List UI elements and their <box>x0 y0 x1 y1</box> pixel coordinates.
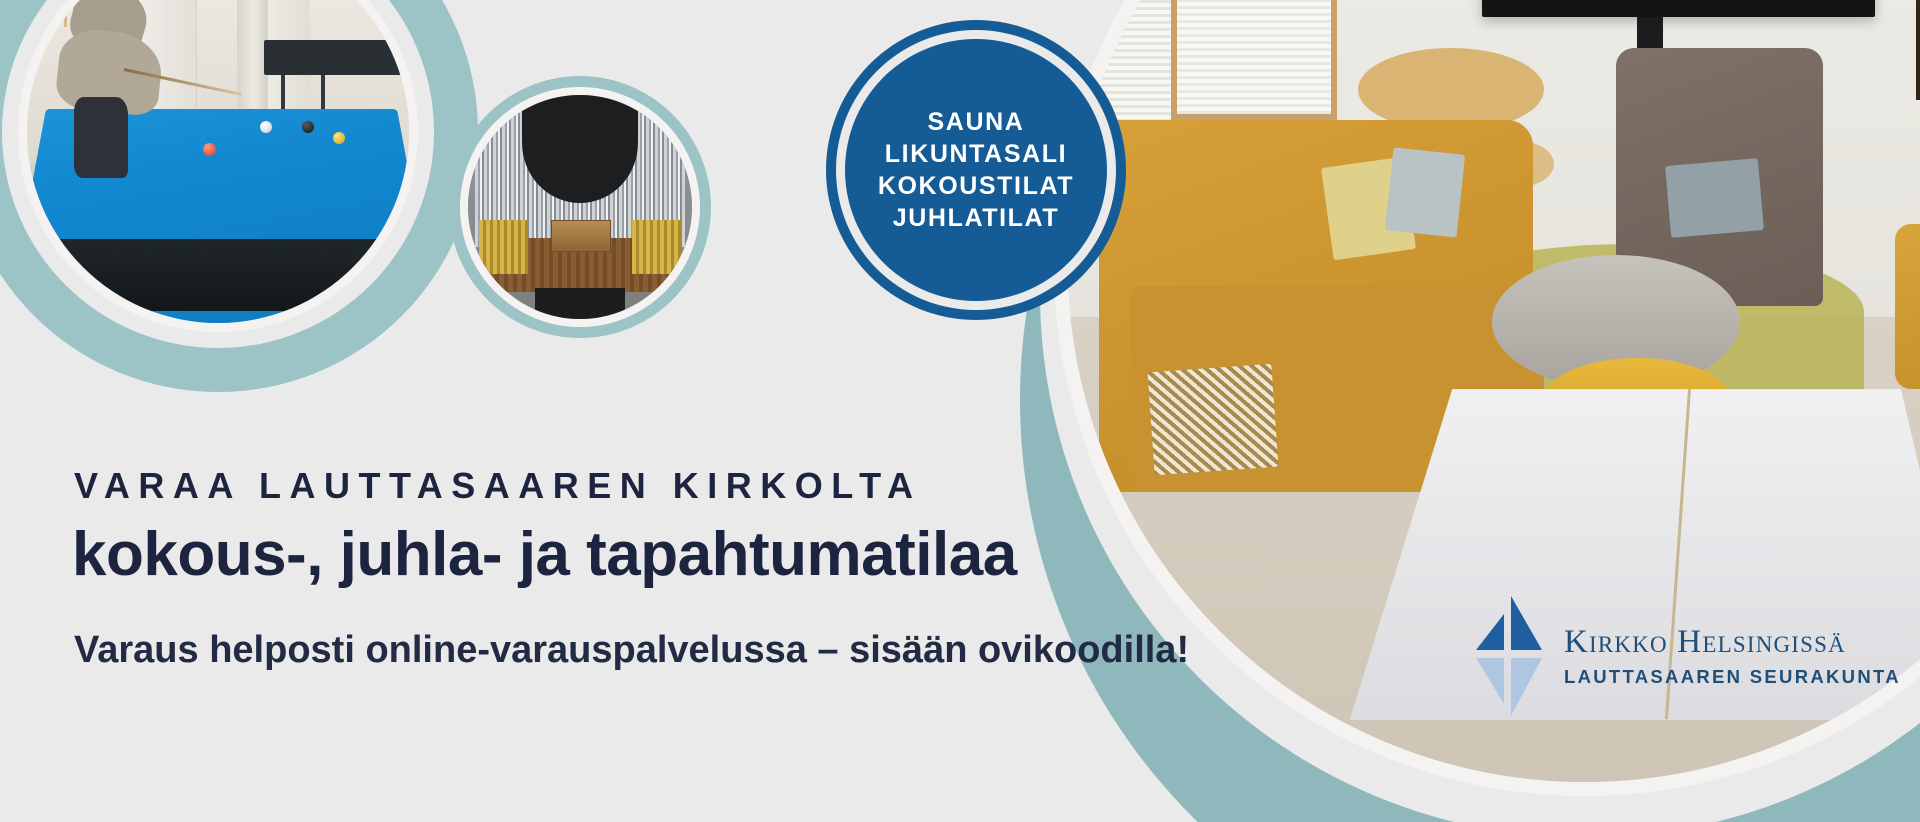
promo-banner: SAUNA LIKUNTASALI KOKOUSTILAT JUHLATILAT… <box>0 0 1920 822</box>
organ-base <box>535 288 625 319</box>
organ-gold-pipes-left <box>479 220 528 274</box>
services-badge-label: SAUNA LIKUNTASALI KOKOUSTILAT JUHLATILAT <box>878 106 1074 234</box>
pool-player <box>58 0 161 170</box>
organ-dark-arch <box>522 87 638 203</box>
church-pipe-organ-photo <box>460 87 700 327</box>
billiards-room-photo <box>18 0 418 332</box>
services-badge[interactable]: SAUNA LIKUNTASALI KOKOUSTILAT JUHLATILAT <box>845 39 1107 301</box>
billiards-scene <box>27 0 409 323</box>
lounge-window-2 <box>1171 0 1336 120</box>
page-title: kokous-, juhla- ja tapahtumatilaa <box>72 519 1017 590</box>
organ-gold-pipes-right <box>632 220 681 274</box>
player-legs <box>74 97 128 178</box>
pool-ball-yellow <box>333 132 345 144</box>
lounge-doorway <box>1916 0 1920 100</box>
subtitle-text: Varaus helposti online-varauspalvelussa … <box>74 629 1189 672</box>
pool-ball-white <box>260 121 272 133</box>
logo-subtitle: LAUTTASAAREN SEURAKUNTA <box>1564 666 1901 688</box>
pool-table-rail <box>25 239 415 310</box>
cross-diamond-icon <box>1470 592 1546 720</box>
yellow-armchair-right <box>1895 224 1920 389</box>
sofa-cushion-grey <box>1384 148 1465 238</box>
logo-wordmark: Kirkko Helsingissä LAUTTASAAREN SEURAKUN… <box>1564 624 1901 688</box>
projector-screen <box>1482 0 1875 17</box>
organisation-logo[interactable]: Kirkko Helsingissä LAUTTASAAREN SEURAKUN… <box>1470 592 1901 720</box>
logo-title: Kirkko Helsingissä <box>1564 624 1901 661</box>
organ-console <box>551 220 611 251</box>
ping-pong-table <box>264 40 409 74</box>
round-wooden-table <box>1358 48 1544 131</box>
armchair-cushion <box>1665 158 1764 238</box>
eyebrow-text: VARAA LAUTTASAAREN KIRKOLTA <box>74 465 921 507</box>
sofa-cushion-patterned <box>1147 364 1278 476</box>
pool-ball-black <box>302 121 314 133</box>
